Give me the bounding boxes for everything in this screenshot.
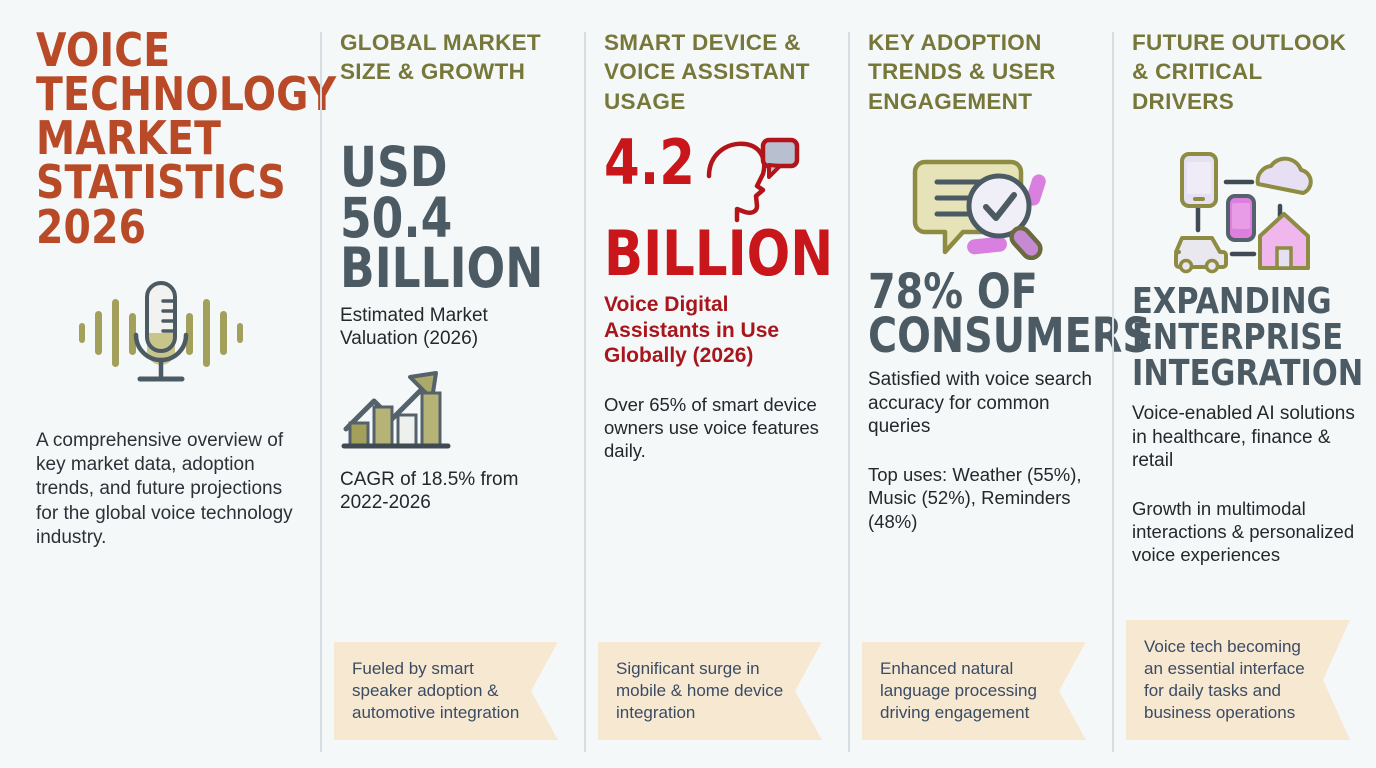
column-global-market-size-growth: GLOBAL MARKET SIZE & GROWTH USD 50.4 BIL… [320,28,584,768]
stat-value-integration: EXPANDING ENTERPRISE INTEGRATION [1132,284,1346,392]
microphone-icon [36,279,296,387]
column-heading: FUTURE OUTLOOK & CRITICAL DRIVERS [1132,28,1360,128]
column-divider [320,32,322,752]
column-heading: SMART DEVICE & VOICE ASSISTANT USAGE [604,28,832,128]
column-heading: KEY ADOPTION TRENDS & USER ENGAGEMENT [868,28,1096,128]
column-heading: GLOBAL MARKET SIZE & GROWTH [340,28,568,128]
stat-caption: Voice-enabled AI solutions in healthcare… [1132,402,1360,473]
stat-unit-billion: BILLION [604,225,814,282]
page-title: VOICE TECHNOLOGY MARKET STATISTICS 2026 [36,28,283,249]
ribbon-callout: Enhanced natural language processing dri… [862,642,1086,740]
stat-value-market-size: USD 50.4 BILLION [340,142,550,294]
column-divider [848,32,850,752]
stat-footnote: Top uses: Weather (55%), Music (52%), Re… [868,463,1096,533]
column-divider [1112,32,1114,752]
stat-caption: Voice Digital Assistants in Use Globally… [604,292,832,369]
stat-footnote: CAGR of 18.5% from 2022-2026 [340,468,568,515]
column-future-outlook-critical-drivers: FUTURE OUTLOOK & CRITICAL DRIVERS [1112,28,1376,768]
ribbon-callout: Fueled by smart speaker adoption & autom… [334,642,558,740]
stat-value-consumers: 78% OF CONSUMERS [868,270,1078,358]
chat-search-check-icon [868,154,1096,260]
ribbon-callout: Significant surge in mobile & home devic… [598,642,822,740]
growth-bar-chart-icon [340,367,568,458]
column-key-adoption-trends-user-engagement: KEY ADOPTION TRENDS & USER ENGAGEMENT 78… [848,28,1112,768]
intro-column: VOICE TECHNOLOGY MARKET STATISTICS 2026 [0,28,320,768]
infographic-canvas: VOICE TECHNOLOGY MARKET STATISTICS 2026 [0,0,1376,768]
column-smart-device-voice-assistant-usage: SMART DEVICE & VOICE ASSISTANT USAGE 4.2… [584,28,848,768]
ribbon-callout: Voice tech becoming an essential interfa… [1126,620,1350,740]
column-divider [584,32,586,752]
stat-footnote: Growth in multimodal interactions & pers… [1132,497,1360,567]
stat-caption: Estimated Market Valuation (2026) [340,304,568,351]
stat-footnote: Over 65% of smart device owners use voic… [604,393,832,463]
stat-value-assistants: 4.2 [604,134,695,191]
intro-description: A comprehensive overview of key market d… [36,429,296,551]
iot-network-icon [1132,150,1360,274]
stat-caption: Satisfied with voice search accuracy for… [868,368,1096,439]
